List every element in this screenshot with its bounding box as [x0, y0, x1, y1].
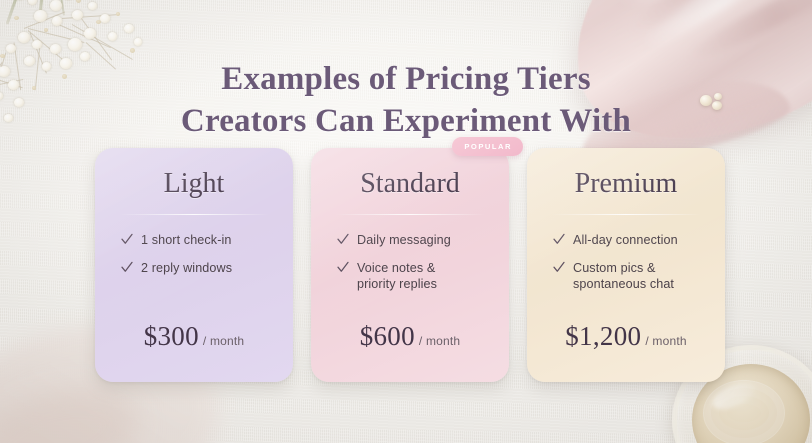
feature-text: 2 reply windows — [141, 260, 232, 277]
check-icon — [121, 233, 133, 246]
feature-text: Daily messaging — [357, 232, 451, 249]
status-badge-popular: POPULAR — [452, 137, 523, 156]
page-title: Examples of Pricing Tiers Creators Can E… — [0, 58, 812, 142]
check-icon — [337, 261, 349, 274]
feature-item: All-day connection — [553, 232, 711, 249]
card-divider — [119, 214, 269, 215]
feature-text: Custom pics & spontaneous chat — [573, 260, 674, 293]
price-amount: $300 — [144, 321, 199, 351]
price-amount: $600 — [360, 321, 415, 351]
card-title: Standard — [325, 170, 495, 198]
pricing-card-premium[interactable]: Premium All-day connection Custom pics &… — [527, 148, 725, 382]
pricing-card-list: Light 1 short check-in 2 reply windows — [95, 148, 725, 382]
card-title: Premium — [541, 170, 711, 198]
price-row: $600/ month — [325, 321, 495, 352]
price-amount: $1,200 — [565, 321, 641, 351]
feature-item: 2 reply windows — [121, 260, 279, 277]
check-icon — [121, 261, 133, 274]
pricing-card-standard[interactable]: POPULAR Standard Daily messaging Voice n… — [311, 148, 509, 382]
feature-list: All-day connection Custom pics & spontan… — [541, 232, 711, 304]
check-icon — [553, 261, 565, 274]
pricing-tiers-graphic: Examples of Pricing Tiers Creators Can E… — [0, 0, 812, 443]
pricing-card-light[interactable]: Light 1 short check-in 2 reply windows — [95, 148, 293, 382]
feature-list: Daily messaging Voice notes & priority r… — [325, 232, 495, 304]
feature-item: 1 short check-in — [121, 232, 279, 249]
feature-list: 1 short check-in 2 reply windows — [109, 232, 279, 287]
feature-text: Voice notes & priority replies — [357, 260, 437, 293]
price-period: / month — [203, 334, 244, 348]
page-title-line-1: Examples of Pricing Tiers — [221, 61, 591, 97]
price-row: $1,200/ month — [541, 321, 711, 352]
feature-text: 1 short check-in — [141, 232, 232, 249]
check-icon — [553, 233, 565, 246]
page-title-line-2: Creators Can Experiment With — [0, 100, 812, 142]
price-row: $300/ month — [109, 321, 279, 352]
card-title: Light — [109, 170, 279, 198]
card-divider — [335, 214, 485, 215]
check-icon — [337, 233, 349, 246]
feature-item: Voice notes & priority replies — [337, 260, 495, 293]
card-divider — [551, 214, 701, 215]
price-period: / month — [645, 334, 686, 348]
feature-item: Custom pics & spontaneous chat — [553, 260, 711, 293]
price-period: / month — [419, 334, 460, 348]
feature-item: Daily messaging — [337, 232, 495, 249]
feature-text: All-day connection — [573, 232, 678, 249]
